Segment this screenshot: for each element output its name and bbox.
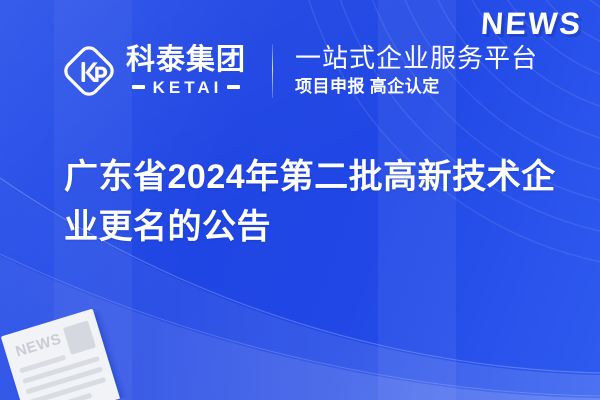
dash-left-icon xyxy=(132,85,145,89)
tagline-block: 一站式企业服务平台 项目申报 高企认定 xyxy=(295,44,538,98)
dash-right-icon xyxy=(227,85,240,89)
header-divider xyxy=(272,44,273,98)
tagline-main: 一站式企业服务平台 xyxy=(295,44,538,73)
brand-name-en: KETAI xyxy=(145,79,228,96)
banner-header: 科泰集团 KETAI 一站式企业服务平台 项目申报 高企认定 xyxy=(62,34,538,108)
brand-name-en-row: KETAI xyxy=(126,79,246,96)
brand-name-cn: 科泰集团 xyxy=(126,46,246,76)
tagline-sub: 项目申报 高企认定 xyxy=(295,77,538,97)
kp-diamond-monogram-icon xyxy=(62,44,116,98)
news-banner: 科泰集团 KETAI 一站式企业服务平台 项目申报 高企认定 NEWS 广东省2… xyxy=(0,0,600,400)
page-title: 广东省2024年第二批高新技术企业更名的公告 xyxy=(64,152,574,253)
news-badge: NEWS xyxy=(480,6,584,42)
brand-wordmark: 科泰集团 KETAI xyxy=(126,46,246,96)
